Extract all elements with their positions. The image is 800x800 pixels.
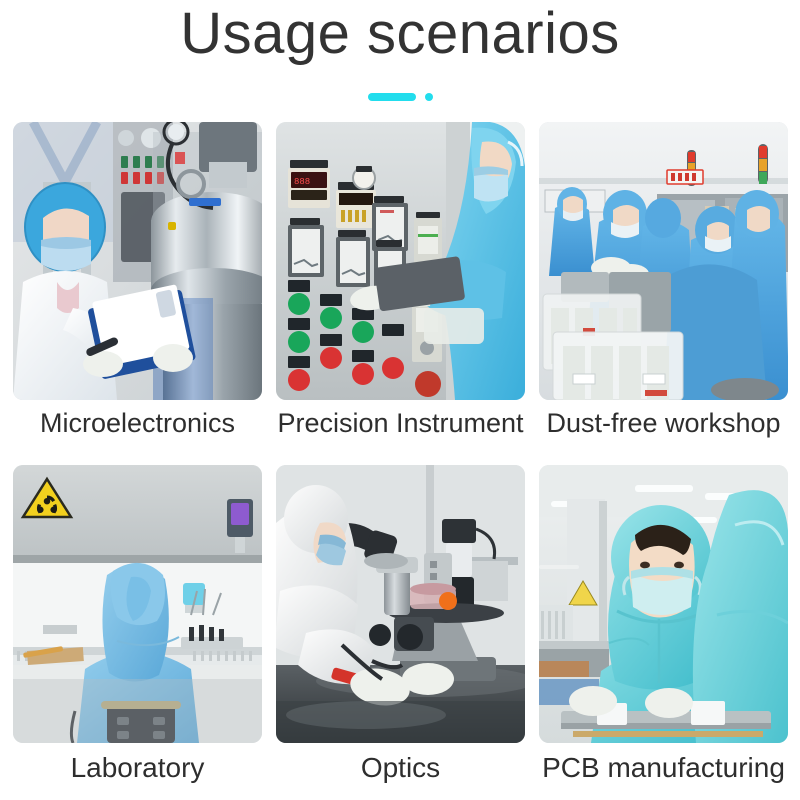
usage-scenarios-page: Usage scenarios: [0, 0, 800, 800]
microelectronics-photo[interactable]: [13, 122, 262, 400]
title-decoration: [0, 93, 800, 101]
scenario-caption: Optics: [361, 749, 440, 787]
decoration-bar-icon: [368, 93, 416, 101]
scenario-row: Laboratory: [13, 465, 788, 743]
scenario-caption: Laboratory: [71, 749, 205, 787]
optics-illustration: [276, 465, 525, 743]
dust-free-workshop-illustration: [539, 122, 788, 400]
scenario-row: Microelectronics: [13, 122, 788, 400]
scenario-caption: Dust-free workshop: [546, 404, 780, 442]
scenario-cell-precision-instrument[interactable]: 888: [276, 122, 525, 400]
microelectronics-illustration: [13, 122, 262, 400]
optics-photo[interactable]: [276, 465, 525, 743]
scenario-caption: PCB manufacturing: [542, 749, 785, 787]
scenario-grid: Microelectronics: [13, 122, 788, 743]
laboratory-photo[interactable]: [13, 465, 262, 743]
pcb-manufacturing-illustration: [539, 465, 788, 743]
scenario-cell-microelectronics[interactable]: Microelectronics: [13, 122, 262, 400]
pcb-manufacturing-photo[interactable]: [539, 465, 788, 743]
precision-instrument-illustration: 888: [276, 122, 525, 400]
svg-text:888: 888: [294, 177, 310, 187]
scenario-cell-dust-free-workshop[interactable]: Dust-free workshop: [539, 122, 788, 400]
scenario-caption: Precision Instrument: [277, 404, 523, 442]
scenario-cell-laboratory[interactable]: Laboratory: [13, 465, 262, 743]
decoration-dot-icon: [425, 93, 433, 101]
scenario-cell-optics[interactable]: Optics: [276, 465, 525, 743]
scenario-cell-pcb-manufacturing[interactable]: PCB manufacturing: [539, 465, 788, 743]
precision-instrument-photo[interactable]: 888: [276, 122, 525, 400]
dust-free-workshop-photo[interactable]: [539, 122, 788, 400]
scenario-caption: Microelectronics: [40, 404, 235, 442]
laboratory-illustration: [13, 465, 262, 743]
page-title: Usage scenarios: [0, 0, 800, 70]
